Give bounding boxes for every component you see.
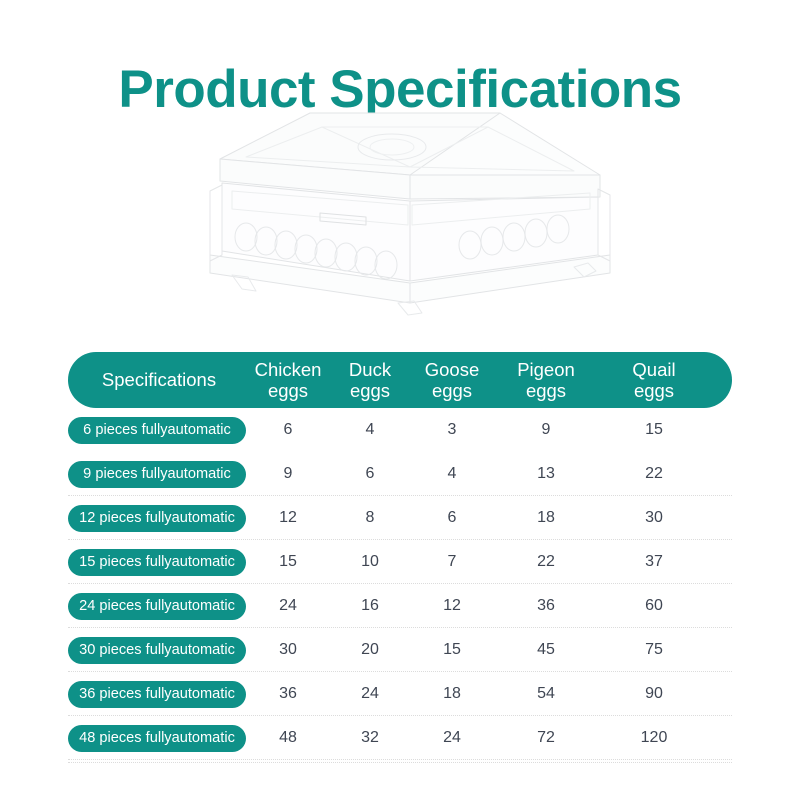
row-spec-pill: 24 pieces fullyautomatic	[68, 593, 246, 620]
cell-chicken: 30	[246, 641, 330, 659]
cell-duck: 10	[330, 553, 410, 571]
cell-chicken: 15	[246, 553, 330, 571]
table-bottom-divider	[68, 762, 732, 763]
table-row: 30 pieces fullyautomatic3020154575	[68, 628, 732, 672]
row-spec-pill: 36 pieces fullyautomatic	[68, 681, 246, 708]
cell-goose: 3	[410, 421, 494, 439]
table-header-row: Specifications Chicken eggs Duck eggs Go…	[68, 352, 732, 408]
table-body: 6 pieces fullyautomatic6439159 pieces fu…	[68, 408, 732, 760]
cell-duck: 16	[330, 597, 410, 615]
table-row: 12 pieces fullyautomatic12861830	[68, 496, 732, 540]
row-spec-pill: 30 pieces fullyautomatic	[68, 637, 246, 664]
column-header-goose-eggs: Goose eggs	[410, 359, 494, 401]
cell-goose: 24	[410, 729, 494, 747]
table-row: 48 pieces fullyautomatic48322472120	[68, 716, 732, 760]
cell-duck: 20	[330, 641, 410, 659]
cell-duck: 8	[330, 509, 410, 527]
cell-quail: 75	[598, 641, 710, 659]
cell-chicken: 9	[246, 465, 330, 483]
cell-chicken: 6	[246, 421, 330, 439]
row-spec-pill: 6 pieces fullyautomatic	[68, 417, 246, 444]
row-divider	[68, 759, 732, 760]
egg-incubator-illustration	[170, 105, 620, 320]
cell-chicken: 12	[246, 509, 330, 527]
cell-quail: 60	[598, 597, 710, 615]
cell-quail: 22	[598, 465, 710, 483]
cell-goose: 15	[410, 641, 494, 659]
column-header-quail-eggs: Quail eggs	[598, 359, 710, 401]
cell-chicken: 48	[246, 729, 330, 747]
product-hero-image	[170, 105, 620, 320]
cell-pigeon: 54	[494, 685, 598, 703]
table-row: 24 pieces fullyautomatic2416123660	[68, 584, 732, 628]
row-spec-pill: 48 pieces fullyautomatic	[68, 725, 246, 752]
cell-pigeon: 45	[494, 641, 598, 659]
column-header-chicken-eggs: Chicken eggs	[246, 359, 330, 401]
product-specifications-page: Product Specifications	[0, 0, 800, 800]
column-header-specifications: Specifications	[68, 369, 246, 390]
cell-quail: 30	[598, 509, 710, 527]
cell-quail: 90	[598, 685, 710, 703]
cell-goose: 18	[410, 685, 494, 703]
cell-pigeon: 13	[494, 465, 598, 483]
cell-quail: 120	[598, 729, 710, 747]
table-row: 36 pieces fullyautomatic3624185490	[68, 672, 732, 716]
cell-duck: 4	[330, 421, 410, 439]
column-header-pigeon-eggs: Pigeon eggs	[494, 359, 598, 401]
table-row: 6 pieces fullyautomatic643915	[68, 408, 732, 452]
cell-pigeon: 18	[494, 509, 598, 527]
cell-goose: 4	[410, 465, 494, 483]
cell-duck: 24	[330, 685, 410, 703]
cell-pigeon: 72	[494, 729, 598, 747]
row-spec-pill: 15 pieces fullyautomatic	[68, 549, 246, 576]
table-row: 9 pieces fullyautomatic9641322	[68, 452, 732, 496]
cell-pigeon: 22	[494, 553, 598, 571]
cell-duck: 6	[330, 465, 410, 483]
table-row: 15 pieces fullyautomatic151072237	[68, 540, 732, 584]
cell-goose: 6	[410, 509, 494, 527]
cell-goose: 7	[410, 553, 494, 571]
column-header-duck-eggs: Duck eggs	[330, 359, 410, 401]
cell-quail: 37	[598, 553, 710, 571]
cell-quail: 15	[598, 421, 710, 439]
cell-chicken: 24	[246, 597, 330, 615]
cell-pigeon: 9	[494, 421, 598, 439]
cell-goose: 12	[410, 597, 494, 615]
cell-chicken: 36	[246, 685, 330, 703]
row-spec-pill: 9 pieces fullyautomatic	[68, 461, 246, 488]
specifications-table: Specifications Chicken eggs Duck eggs Go…	[68, 352, 732, 763]
row-spec-pill: 12 pieces fullyautomatic	[68, 505, 246, 532]
cell-pigeon: 36	[494, 597, 598, 615]
cell-duck: 32	[330, 729, 410, 747]
